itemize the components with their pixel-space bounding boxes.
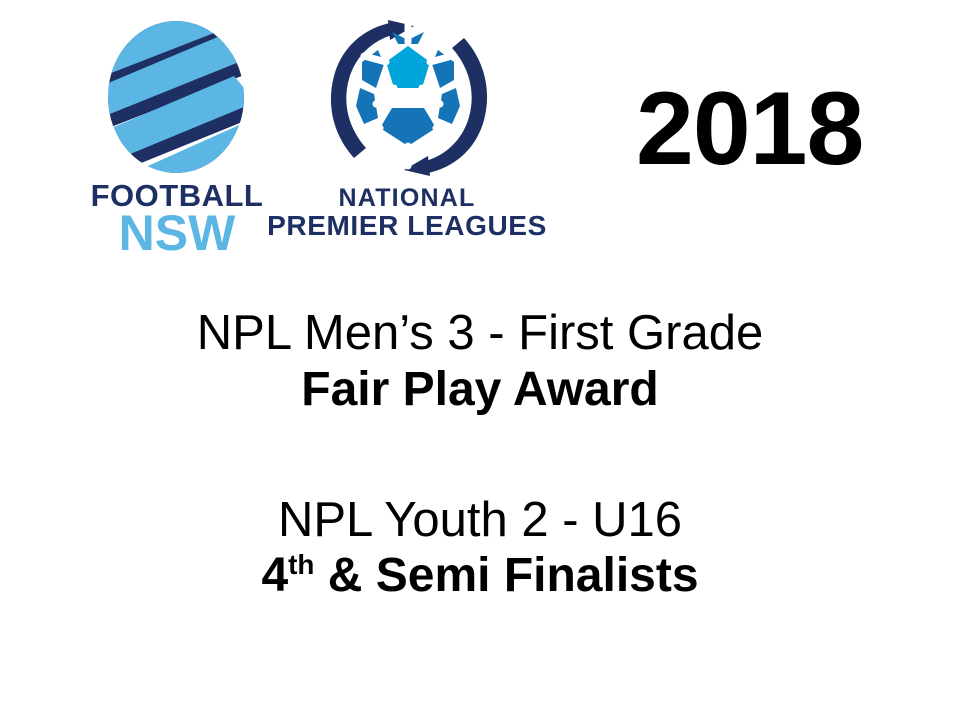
award-slide: FOOTBALL NSW [0, 0, 960, 720]
award-entry: NPL Men’s 3 - First Grade Fair Play Awar… [0, 305, 960, 418]
globe-icon [90, 18, 262, 176]
award-entry: NPL Youth 2 - U16 4th & Semi Finalists [0, 492, 960, 605]
award-list: NPL Men’s 3 - First Grade Fair Play Awar… [0, 305, 960, 604]
award-result-ordinal: 4 [261, 549, 288, 602]
football-nsw-wordmark-line2: NSW [82, 208, 272, 258]
award-result-ordinal-suffix: th [288, 549, 314, 580]
award-result-rest: & Semi Finalists [314, 549, 698, 602]
award-competition: NPL Men’s 3 - First Grade [0, 305, 960, 362]
award-competition: NPL Youth 2 - U16 [0, 492, 960, 549]
award-spacer [0, 418, 960, 492]
npl-wordmark-line2: PREMIER LEAGUES [262, 212, 552, 241]
award-result: Fair Play Award [0, 362, 960, 418]
npl-wordmark: NATIONAL PREMIER LEAGUES [262, 186, 552, 240]
soccer-ball-icon [326, 18, 491, 178]
football-nsw-wordmark: FOOTBALL NSW [82, 180, 272, 258]
year-label: 2018 [636, 77, 863, 181]
award-result: 4th & Semi Finalists [0, 548, 960, 604]
slide-header: FOOTBALL NSW [0, 0, 960, 270]
npl-wordmark-line1: NATIONAL [262, 186, 552, 212]
national-premier-leagues-logo: NATIONAL PREMIER LEAGUES [262, 18, 552, 258]
football-nsw-logo: FOOTBALL NSW [82, 18, 272, 258]
